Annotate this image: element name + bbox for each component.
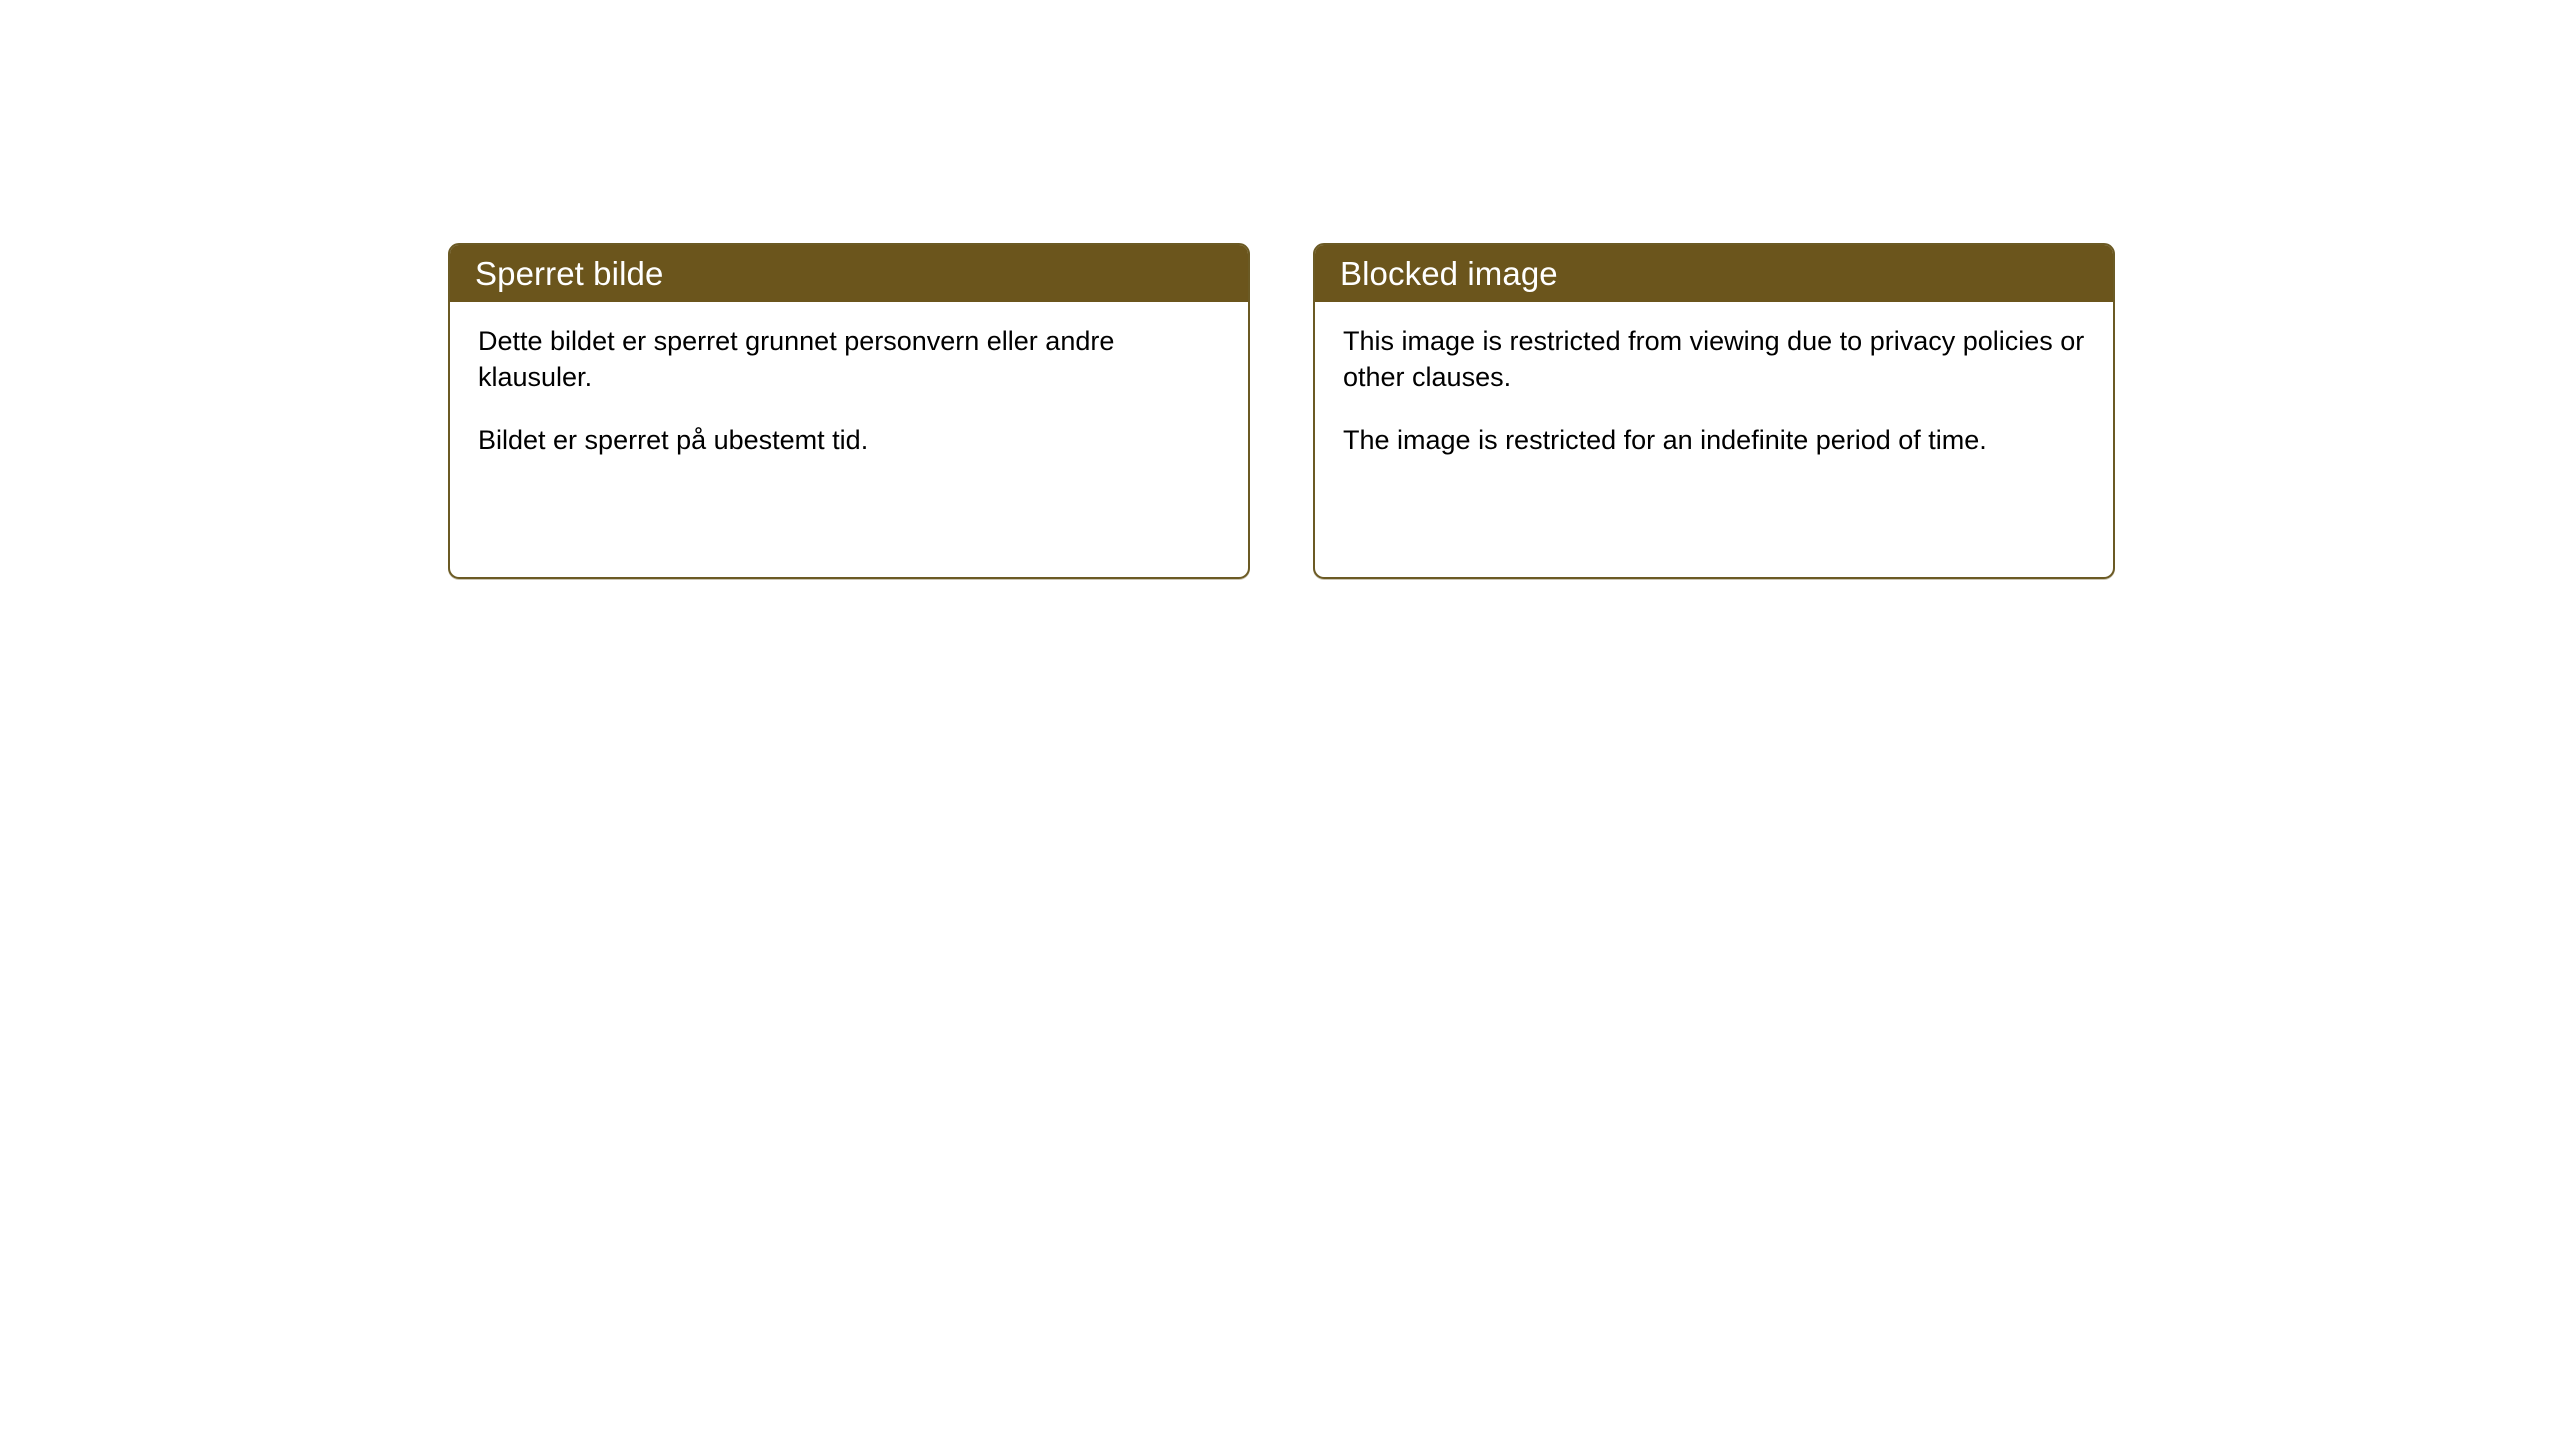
page-root: Sperret bilde Dette bildet er sperret gr… bbox=[0, 0, 2560, 1440]
notice-card-norwegian: Sperret bilde Dette bildet er sperret gr… bbox=[448, 243, 1250, 579]
notice-title-norwegian: Sperret bilde bbox=[475, 257, 663, 290]
notice-header-norwegian: Sperret bilde bbox=[450, 245, 1248, 302]
notice-paragraph-primary-english: This image is restricted from viewing du… bbox=[1343, 324, 2087, 396]
notice-title-english: Blocked image bbox=[1340, 257, 1558, 290]
notice-card-group: Sperret bilde Dette bildet er sperret gr… bbox=[448, 243, 2115, 579]
notice-paragraph-secondary-norwegian: Bildet er sperret på ubestemt tid. bbox=[478, 423, 1222, 459]
notice-paragraph-primary-norwegian: Dette bildet er sperret grunnet personve… bbox=[478, 324, 1222, 396]
notice-paragraph-secondary-english: The image is restricted for an indefinit… bbox=[1343, 423, 2087, 459]
notice-header-english: Blocked image bbox=[1315, 245, 2113, 302]
notice-card-english: Blocked image This image is restricted f… bbox=[1313, 243, 2115, 579]
notice-body-english: This image is restricted from viewing du… bbox=[1315, 302, 2113, 577]
notice-body-norwegian: Dette bildet er sperret grunnet personve… bbox=[450, 302, 1248, 577]
